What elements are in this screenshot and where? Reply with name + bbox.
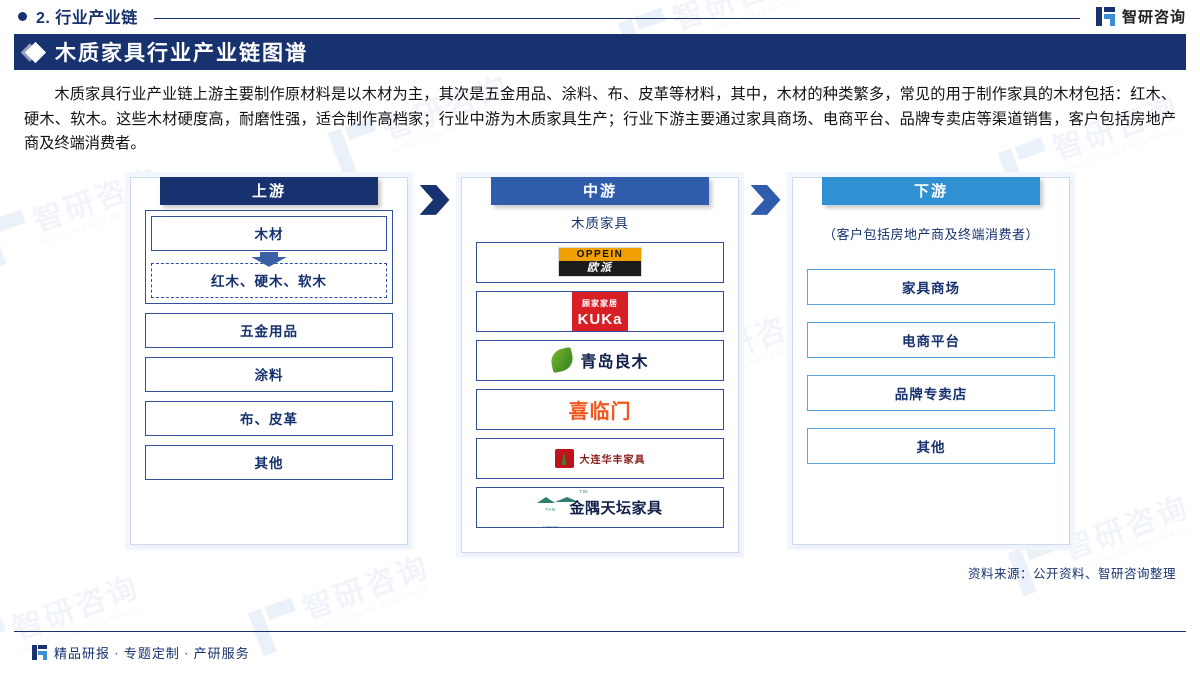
industry-chain-diagram: 上游 木材 红木、硬木、软木 五金用品 涂料 布、皮革 其他 中游 木质家具 (130, 177, 1070, 553)
midstream-company-xilinmen[interactable]: 喜临门 (476, 389, 724, 430)
upstream-item-hardware[interactable]: 五金用品 (145, 313, 393, 348)
midstream-category-label: 木质家具 (476, 212, 724, 232)
watermark-cn-text: 智研咨询 (1060, 492, 1194, 565)
header-divider (154, 18, 1080, 19)
upstream-item-other[interactable]: 其他 (145, 445, 393, 480)
page-title: 木质家具行业产业链图谱 (55, 37, 308, 67)
midstream-company-oppein[interactable]: OPPEIN 欧派 (476, 242, 724, 283)
kuka-logo-top-text: 顾家家居 (582, 299, 618, 308)
midstream-company-jinyu-tiantan[interactable]: TIN TAN HOME 金隅天坛家具 (476, 487, 724, 528)
leaf-icon (549, 347, 575, 373)
upstream-card: 木材 红木、硬木、软木 五金用品 涂料 布、皮革 其他 (130, 177, 408, 545)
chevron-arrow-midstream-to-downstream (745, 177, 787, 215)
source-note: 资料来源：公开资料、智研咨询整理 (0, 563, 1176, 582)
oppein-logo-icon: OPPEIN 欧派 (558, 247, 642, 277)
dalian-huafeng-logo-icon: 大连华丰家具 (555, 449, 646, 468)
downstream-card: （客户包括房地产商及终端消费者） 家具商场 电商平台 品牌专卖店 其他 (792, 177, 1070, 545)
upstream-item-coating[interactable]: 涂料 (145, 357, 393, 392)
section-title: 2. 行业产业链 (36, 4, 138, 28)
brand-name: 智研咨询 (1122, 6, 1186, 27)
midstream-company-kuka[interactable]: 顾家家居 KUKa (476, 291, 724, 332)
diamond-icon (25, 41, 46, 62)
zhiyan-logo-icon (1096, 7, 1115, 26)
temple-icon: TIN TAN HOME (537, 487, 563, 528)
downstream-column: 下游 （客户包括房地产商及终端消费者） 家具商场 电商平台 品牌专卖店 其他 (792, 177, 1070, 545)
page-footer: 精品研报 · 专题定制 · 产研服务 (14, 631, 1186, 673)
jinyu-tiantan-logo-text: 金隅天坛家具 (569, 497, 662, 518)
downstream-item-other[interactable]: 其他 (807, 428, 1055, 464)
upstream-item-fabric-leather[interactable]: 布、皮革 (145, 401, 393, 436)
downstream-header: 下游 (822, 177, 1040, 205)
footer-tagline: 精品研报 · 专题定制 · 产研服务 (54, 643, 250, 662)
midstream-company-qingdao-liangmu[interactable]: 青岛良木 (476, 340, 724, 381)
oppein-logo-bottom-text: 欧派 (559, 261, 641, 276)
downstream-item-ecommerce[interactable]: 电商平台 (807, 322, 1055, 358)
downstream-item-furniture-mall[interactable]: 家具商场 (807, 269, 1055, 305)
dalian-huafeng-logo-text: 大连华丰家具 (580, 451, 646, 466)
zhiyan-logo-icon (32, 645, 47, 660)
jinyu-tiantan-logo-icon: TIN TAN HOME 金隅天坛家具 (537, 487, 662, 528)
midstream-header: 中游 (491, 177, 709, 205)
downstream-note: （客户包括房地产商及终端消费者） (807, 224, 1055, 243)
midstream-card: 木质家具 OPPEIN 欧派 顾家家居 KUKa 青岛良木 (461, 177, 739, 553)
kuka-logo-icon: 顾家家居 KUKa (572, 291, 628, 331)
page-header: 2. 行业产业链 智研咨询 (0, 0, 1200, 32)
chevron-right-icon (420, 185, 450, 215)
midstream-column: 中游 木质家具 OPPEIN 欧派 顾家家居 KUKa 青岛良木 (461, 177, 739, 553)
xilinmen-logo-text: 喜临门 (569, 395, 632, 424)
oppein-logo-top-text: OPPEIN (559, 248, 641, 261)
upstream-item-wood[interactable]: 木材 (151, 216, 387, 251)
wood-group-box: 木材 红木、硬木、软木 (145, 210, 393, 304)
chevron-right-icon (751, 185, 781, 215)
upstream-column: 上游 木材 红木、硬木、软木 五金用品 涂料 布、皮革 其他 (130, 177, 408, 545)
qingdao-liangmu-logo-icon: 青岛良木 (551, 348, 648, 372)
down-arrow-icon (251, 252, 287, 267)
watermark-logo-icon (0, 209, 37, 268)
bullet-dot-icon (18, 12, 27, 21)
downstream-item-brand-store[interactable]: 品牌专卖店 (807, 375, 1055, 411)
watermark-en-text: INTELLIGENCE RESEARCH (311, 583, 437, 635)
page-title-band: 木质家具行业产业链图谱 (14, 34, 1186, 70)
upstream-item-wood-types[interactable]: 红木、硬木、软木 (151, 263, 387, 298)
chevron-arrow-upstream-to-midstream (414, 177, 456, 215)
kuka-logo-bottom-text: KUKa (578, 311, 623, 328)
qingdao-liangmu-logo-text: 青岛良木 (580, 348, 648, 372)
midstream-company-dalian-huafeng[interactable]: 大连华丰家具 (476, 438, 724, 479)
tree-mark-icon (555, 449, 574, 468)
upstream-header: 上游 (160, 177, 378, 205)
brand-logo: 智研咨询 (1096, 6, 1186, 27)
intro-paragraph: 木质家具行业产业链上游主要制作原材料是以木材为主，其次是五金用品、涂料、布、皮革… (24, 83, 1176, 157)
